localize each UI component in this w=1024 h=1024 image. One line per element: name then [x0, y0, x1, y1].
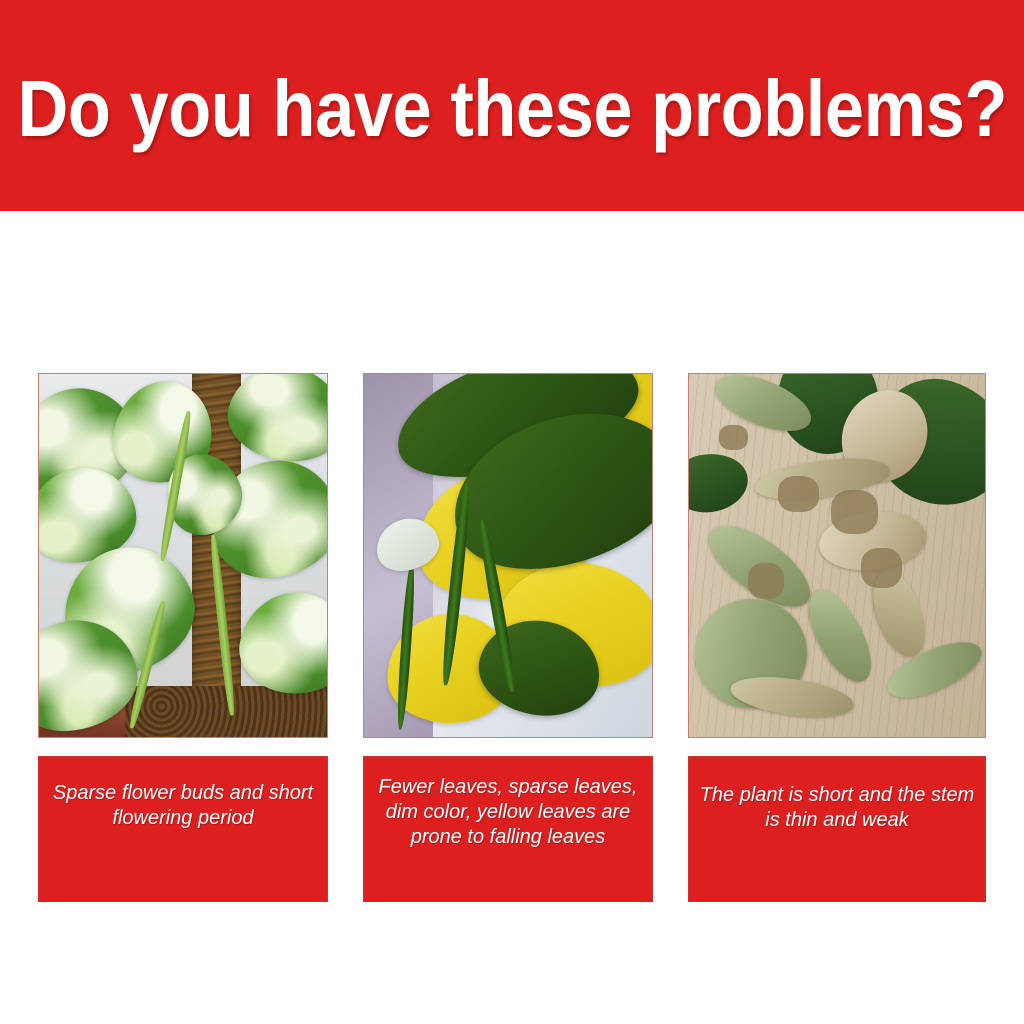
problem-panel-1: Sparse flower buds and short flowering p… [38, 373, 328, 902]
debris-decor [861, 548, 902, 588]
debris-decor [719, 425, 749, 450]
plant-photo-yellow-leaves [364, 374, 652, 737]
debris-decor [778, 476, 819, 512]
header-banner: Do you have these problems? [0, 0, 1024, 211]
debris-decor [748, 563, 784, 599]
panel-caption-2: Fewer leaves, sparse leaves, dim color, … [363, 756, 653, 902]
panel-caption-3: The plant is short and the stem is thin … [688, 756, 986, 902]
panel-caption-1: Sparse flower buds and short flowering p… [38, 756, 328, 902]
root-decor [729, 670, 857, 723]
orchid-leaf-decor [689, 448, 753, 519]
debris-decor [831, 490, 878, 534]
page-title: Do you have these problems? [8, 69, 1015, 149]
problem-panel-3: The plant is short and the stem is thin … [688, 373, 986, 902]
root-decor [797, 581, 883, 690]
plant-photo-damaged-roots [689, 374, 985, 737]
problem-panel-2: Fewer leaves, sparse leaves, dim color, … [363, 373, 653, 902]
photo-frame-1 [38, 373, 328, 738]
plant-photo-variegated-pothos [39, 374, 327, 737]
soil-decor [120, 686, 327, 737]
problem-panels-row: Sparse flower buds and short flowering p… [38, 373, 986, 903]
photo-frame-3 [688, 373, 986, 738]
photo-frame-2 [363, 373, 653, 738]
